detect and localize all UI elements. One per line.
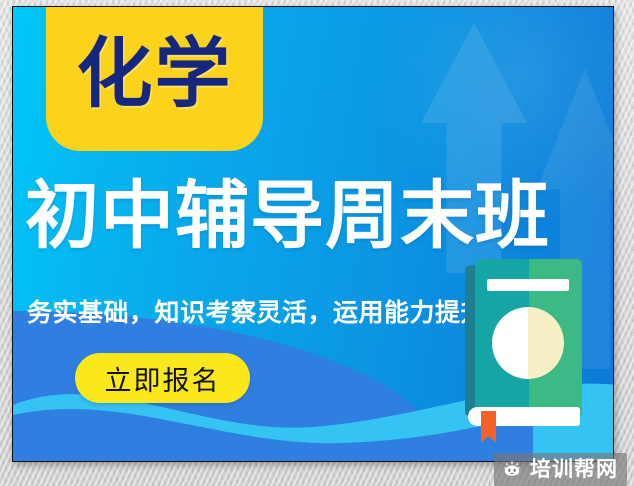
site-watermark: 培训帮网 [494,453,627,486]
book-title-bar [487,279,569,291]
enroll-now-button[interactable]: 立即报名 [75,353,250,403]
book-illustration [465,259,583,429]
banner-subtitle: 务实基础，知识考察灵活，运用能力提升 [27,293,486,329]
banner-headline: 初中辅导周末班 [25,179,550,253]
book-circle-emblem [492,307,564,379]
enroll-now-label: 立即报名 [105,359,221,398]
sun-face-icon [501,459,523,481]
watermark-label: 培训帮网 [530,459,618,480]
course-promo-banner: 化学 初中辅导周末班 务实基础，知识考察灵活，运用能力提升 立即报名 [12,6,614,462]
subject-badge-label: 化学 [77,36,233,118]
subject-badge: 化学 [46,6,263,151]
